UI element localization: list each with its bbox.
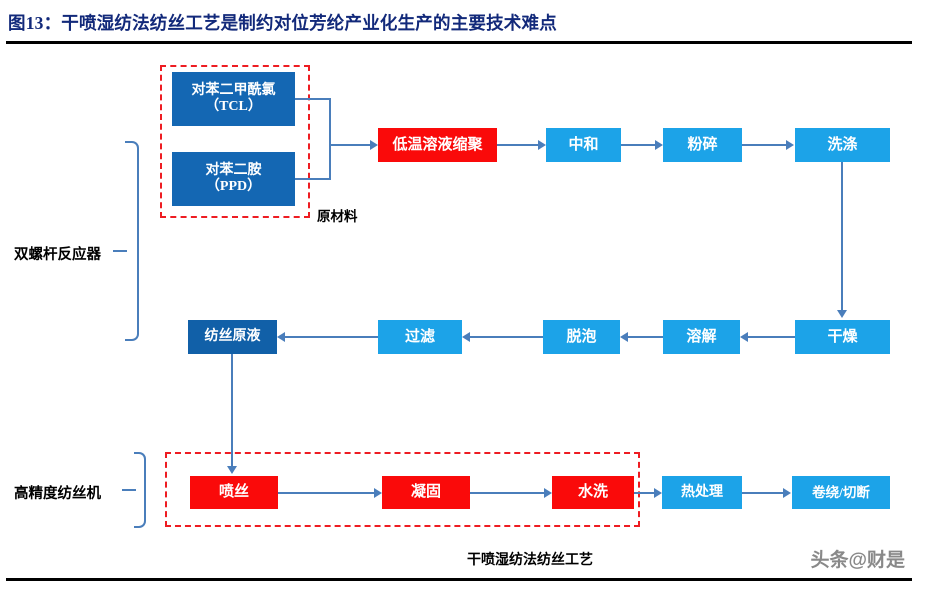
node-defoaming[interactable]: 脱泡 [543, 320, 620, 354]
node-tcl[interactable]: 对苯二甲酰氯 （TCL） [172, 72, 295, 126]
node-ppd-line2: （PPD） [206, 179, 262, 195]
node-filtration[interactable]: 过滤 [378, 320, 462, 354]
arrow-to-washing [786, 140, 794, 150]
node-tcl-line2: （TCL） [192, 99, 276, 115]
node-coagulation[interactable]: 凝固 [382, 476, 470, 509]
bottom-caption: 干喷湿纺法纺丝工艺 [467, 549, 593, 569]
side-label-twin-screw-reactor: 双螺杆反应器 [14, 243, 101, 264]
figure-canvas: 图13：干喷湿纺法纺丝工艺是制约对位芳纶产业化生产的主要技术难点 双螺杆反应器 … [0, 0, 927, 597]
connector-defoaming-to-filtration [470, 336, 543, 338]
figure-title: 图13：干喷湿纺法纺丝工艺是制约对位芳纶产业化生产的主要技术难点 [8, 10, 908, 35]
side-label-high-precision-spinner: 高精度纺丝机 [14, 482, 101, 503]
arrow-to-water-washing [544, 488, 552, 498]
node-tcl-line1: 对苯二甲酰氯 [192, 83, 276, 99]
arrow-to-heat-treatment [654, 488, 662, 498]
arrow-to-defoaming [620, 332, 628, 342]
node-winding-cutting[interactable]: 卷绕/切断 [792, 476, 890, 509]
node-spinneret-extrusion[interactable]: 喷丝 [190, 476, 278, 509]
figure-divider-bottom [6, 578, 912, 581]
arrow-to-winding-cutting [783, 488, 791, 498]
node-drying[interactable]: 干燥 [795, 320, 890, 354]
node-low-temp-solution-polycondensation[interactable]: 低温溶液缩聚 [378, 128, 497, 162]
bracket-stem-twin-screw-reactor [113, 250, 127, 252]
node-heat-treatment[interactable]: 热处理 [662, 476, 742, 509]
arrow-to-spinning-dope [277, 332, 285, 342]
connector-neutralization-to-pulverization [621, 144, 657, 146]
connector-spinneret-to-coagulation [278, 492, 375, 494]
node-water-washing[interactable]: 水洗 [552, 476, 634, 509]
connector-spinning-dope-to-spinneret [231, 354, 233, 468]
arrow-to-drying [837, 310, 847, 318]
arrow-to-pulverization [655, 140, 663, 150]
connector-merge-vertical [329, 98, 331, 180]
connector-polycondensation-to-neutralization [497, 144, 539, 146]
bracket-twin-screw-reactor [125, 141, 139, 341]
connector-filtration-to-spinning-dope [285, 336, 378, 338]
connector-heat-treatment-to-winding [742, 492, 784, 494]
arrow-to-coagulation [374, 488, 382, 498]
arrow-to-polycondensation [370, 140, 378, 150]
node-neutralization[interactable]: 中和 [546, 128, 621, 162]
bracket-stem-high-precision-spinner [122, 489, 136, 491]
node-spinning-dope[interactable]: 纺丝原液 [188, 320, 277, 354]
connector-drying-to-dissolution [748, 336, 795, 338]
title-divider-top [6, 41, 912, 44]
arrow-to-filtration [462, 332, 470, 342]
node-pulverization[interactable]: 粉碎 [663, 128, 742, 162]
node-ppd-line1: 对苯二胺 [206, 163, 262, 179]
connector-washing-to-drying [841, 162, 843, 312]
connector-coagulation-to-water-washing [470, 492, 545, 494]
node-ppd[interactable]: 对苯二胺 （PPD） [172, 152, 295, 206]
connector-tcl-out [295, 98, 330, 100]
connector-ppd-out [295, 178, 330, 180]
label-raw-material: 原材料 [317, 205, 358, 225]
connector-merge-to-polycondensation [329, 144, 371, 146]
node-dissolution[interactable]: 溶解 [663, 320, 740, 354]
connector-pulverization-to-washing [742, 144, 787, 146]
connector-water-washing-to-heat-treatment [634, 492, 655, 494]
arrow-to-dissolution [740, 332, 748, 342]
node-washing[interactable]: 洗涤 [795, 128, 890, 162]
connector-dissolution-to-defoaming [628, 336, 663, 338]
watermark: 头条@财是 [810, 545, 905, 572]
arrow-to-neutralization [538, 140, 546, 150]
